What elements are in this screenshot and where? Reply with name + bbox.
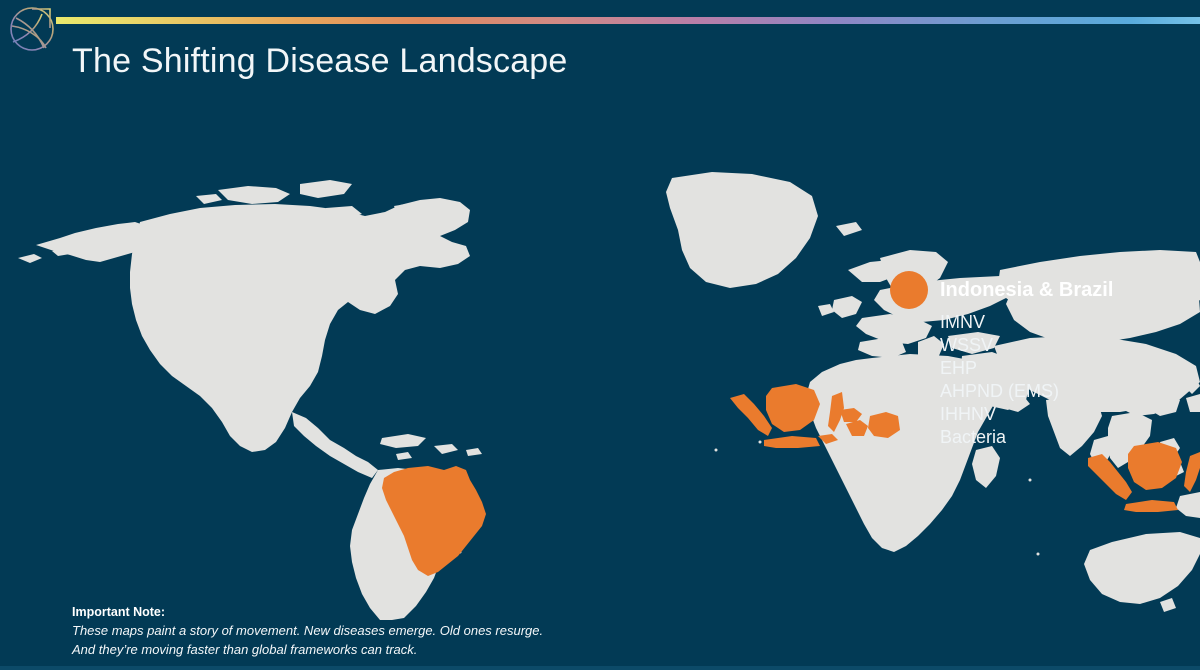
footnote-line-1: These maps paint a story of movement. Ne… [72,621,712,640]
page-title: The Shifting Disease Landscape [72,42,568,81]
legend-header: Indonesia & Brazil [890,272,1180,308]
lesser-sunda [818,434,838,444]
map-legend: Indonesia & Brazil IMNV WSSV EHP AHPND (… [890,272,1180,449]
accent-gradient-bar [56,17,1200,24]
island-dot [1029,479,1032,482]
island-dot [715,449,718,452]
footnote-block: Important Note: These maps paint a story… [72,604,712,659]
legend-disease-list: IMNV WSSV EHP AHPND (EMS) IHHNV Bacteria [890,311,1180,449]
legend-item-ehp: EHP [940,357,1180,380]
legend-item-wssv: WSSV [940,334,1180,357]
bottom-edge-strip [0,666,1200,670]
sulawesi-arm [840,408,862,422]
island-dot [1037,553,1040,556]
footnote-label: Important Note: [72,604,712,621]
kalimantan [766,384,820,432]
legend-marker-dot [890,271,928,309]
legend-item-imnv: IMNV [940,311,1180,334]
legend-item-bacteria: Bacteria [940,426,1180,449]
indonesia-islands [730,384,900,448]
legend-item-ahpnd: AHPND (EMS) [940,380,1180,403]
legend-title: Indonesia & Brazil [940,279,1113,302]
footnote-line-2: And they’re moving faster than global fr… [72,640,712,659]
legend-item-ihhnv: IHHNV [940,403,1180,426]
java [764,436,820,448]
indonesia-detail-overlay [720,380,900,490]
slide-canvas: The Shifting Disease Landscape [0,0,1200,670]
brand-logo-icon [6,4,58,54]
maluku [846,420,868,436]
sumatra [730,394,772,436]
